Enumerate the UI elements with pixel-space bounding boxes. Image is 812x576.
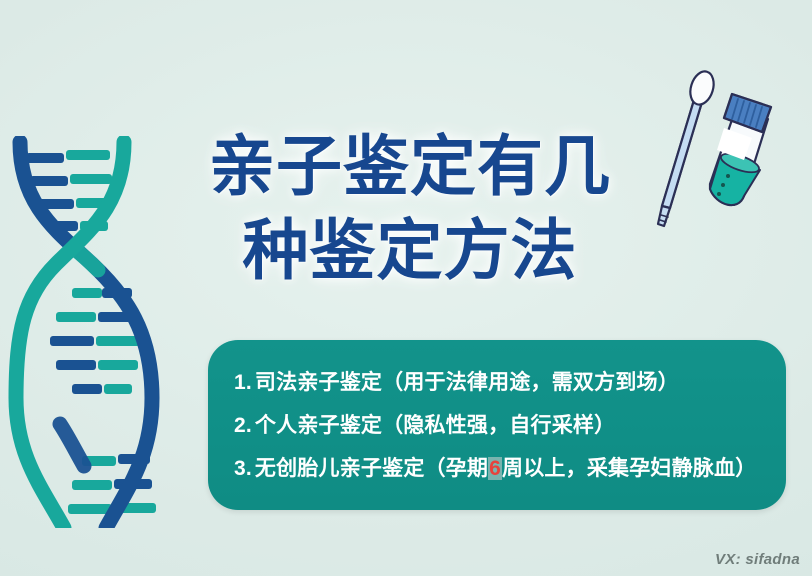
list-item-text: 司法亲子鉴定（用于法律用途，需双方到场） <box>255 371 679 394</box>
highlighted-number: 6 <box>488 457 502 480</box>
title-line-1: 亲子鉴定有几 <box>150 126 670 206</box>
list-item-index: 3. <box>234 457 252 480</box>
title-line-2: 种鉴定方法 <box>150 210 670 290</box>
list-item: 1.司法亲子鉴定（用于法律用途，需双方到场） <box>234 361 772 404</box>
list-item-index: 1. <box>234 371 252 394</box>
dna-double-helix-icon <box>2 136 162 528</box>
list-item-text-prefix: 无创胎儿亲子鉴定（孕期 <box>255 457 488 480</box>
methods-list: 1.司法亲子鉴定（用于法律用途，需双方到场） 2.个人亲子鉴定（隐私性强，自行采… <box>234 361 772 490</box>
poster-canvas: 亲子鉴定有几 种鉴定方法 1.司法亲子鉴定（用于法律用途，需双方到场） 2.个人… <box>0 0 812 576</box>
poster-title: 亲子鉴定有几 种鉴定方法 <box>150 126 670 290</box>
list-item: 2.个人亲子鉴定（隐私性强，自行采样） <box>234 404 772 447</box>
list-item-text: 个人亲子鉴定（隐私性强，自行采样） <box>255 414 615 437</box>
list-item-index: 2. <box>234 414 252 437</box>
test-tube <box>710 94 771 205</box>
list-item-text-suffix: 周以上，采集孕妇静脉血） <box>502 457 756 480</box>
methods-list-panel: 1.司法亲子鉴定（用于法律用途，需双方到场） 2.个人亲子鉴定（隐私性强，自行采… <box>208 340 786 510</box>
list-item: 3.无创胎儿亲子鉴定（孕期6周以上，采集孕妇静脉血） <box>234 447 772 490</box>
watermark: VX: sifadna <box>715 551 800 568</box>
